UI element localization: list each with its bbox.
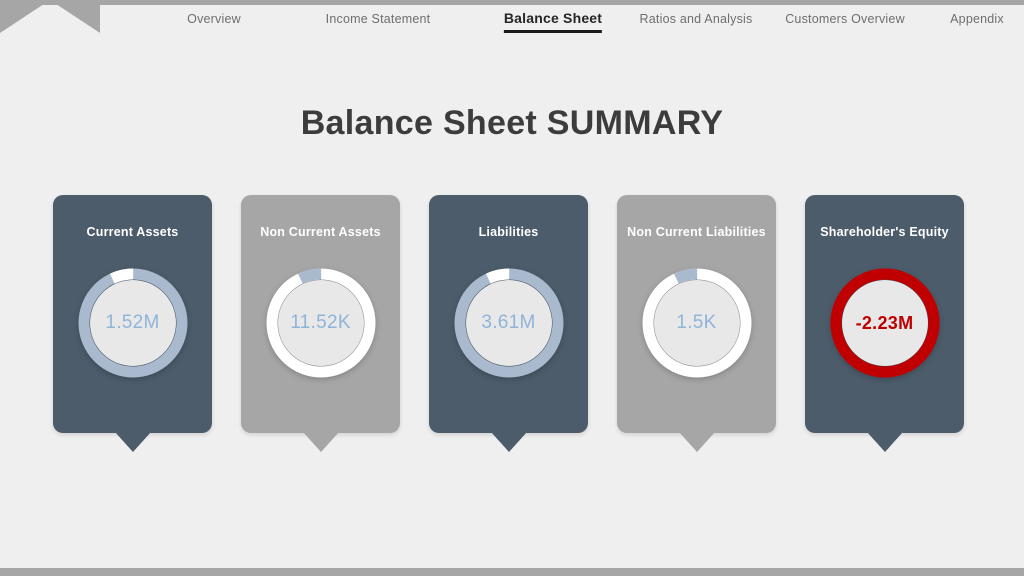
kpi-card-label: Non Current Assets	[241, 225, 400, 239]
kpi-value: 11.52K	[263, 265, 379, 381]
bottom-accent-strip	[0, 568, 1024, 576]
nav-item-income-statement[interactable]: Income Statement	[326, 12, 431, 30]
kpi-card-label: Liabilities	[429, 225, 588, 239]
kpi-card-row: Current Assets1.52MNon Current Assets11.…	[0, 195, 1024, 460]
kpi-donut: 3.61M	[451, 265, 567, 381]
main-navigation: OverviewIncome StatementBalance SheetRat…	[0, 0, 1024, 44]
nav-item-customers-overview[interactable]: Customers Overview	[785, 12, 905, 30]
nav-item-balance-sheet[interactable]: Balance Sheet	[504, 10, 602, 33]
kpi-card-pointer	[491, 432, 527, 452]
kpi-donut: 1.5K	[639, 265, 755, 381]
kpi-value: 1.5K	[639, 265, 755, 381]
kpi-card[interactable]: Current Assets1.52M	[53, 195, 212, 433]
nav-item-overview[interactable]: Overview	[187, 12, 241, 30]
kpi-card-label: Current Assets	[53, 225, 212, 239]
kpi-card-pointer	[303, 432, 339, 452]
page-title: Balance Sheet SUMMARY	[0, 104, 1024, 143]
kpi-card-label: Non Current Liabilities	[617, 225, 776, 239]
kpi-card-label: Shareholder's Equity	[805, 225, 964, 239]
kpi-card-pointer	[115, 432, 151, 452]
kpi-donut: -2.23M	[827, 265, 943, 381]
nav-item-appendix[interactable]: Appendix	[950, 12, 1004, 30]
kpi-card[interactable]: Shareholder's Equity-2.23M	[805, 195, 964, 433]
kpi-value: 3.61M	[451, 265, 567, 381]
kpi-card-pointer	[867, 432, 903, 452]
kpi-value: 1.52M	[75, 265, 191, 381]
kpi-card[interactable]: Non Current Assets11.52K	[241, 195, 400, 433]
kpi-card-pointer	[679, 432, 715, 452]
kpi-card[interactable]: Liabilities3.61M	[429, 195, 588, 433]
kpi-card[interactable]: Non Current Liabilities1.5K	[617, 195, 776, 433]
kpi-donut: 11.52K	[263, 265, 379, 381]
kpi-donut: 1.52M	[75, 265, 191, 381]
nav-item-ratios-and-analysis[interactable]: Ratios and Analysis	[640, 12, 753, 30]
kpi-value: -2.23M	[827, 265, 943, 381]
